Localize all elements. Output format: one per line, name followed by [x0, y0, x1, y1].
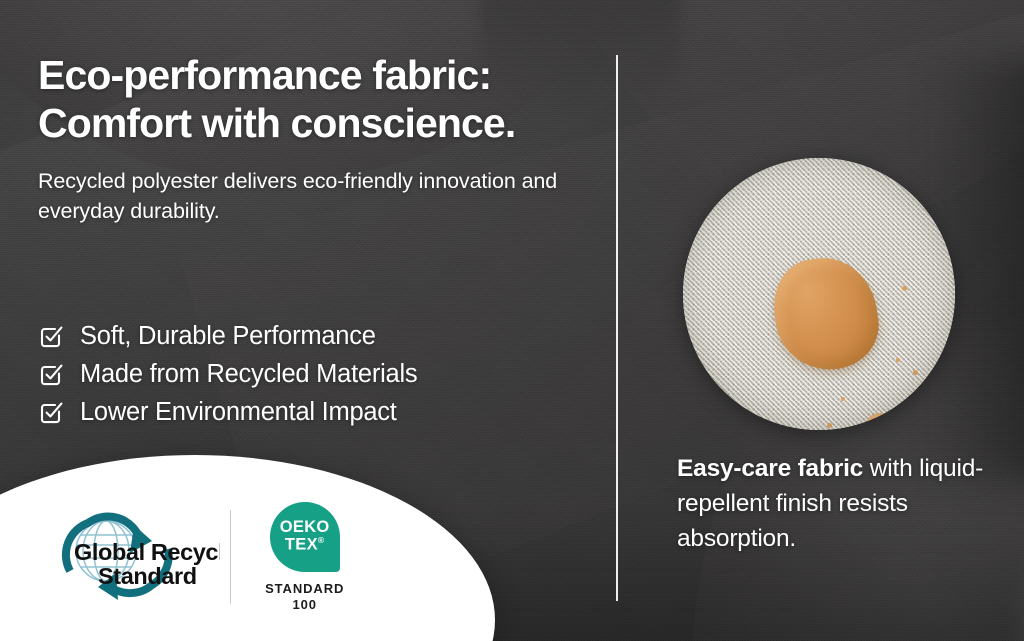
globe-recycle-arrows-icon: Global Recycled Standard	[48, 505, 220, 609]
badge-separator	[230, 510, 231, 604]
subheadline: Recycled polyester delivers eco-friendly…	[38, 167, 598, 226]
oeko-tex-mark-line-1: OEKO	[280, 519, 330, 536]
list-item: Made from Recycled Materials	[38, 360, 578, 389]
vertical-divider	[616, 55, 618, 601]
list-item: Lower Environmental Impact	[38, 398, 578, 427]
feature-label: Lower Environmental Impact	[80, 398, 397, 427]
headline-line-2: Comfort with conscience.	[38, 100, 598, 148]
right-caption-bold: Easy-care fabric	[677, 455, 863, 482]
fabric-swatch-circle	[683, 158, 955, 430]
list-item: Soft, Durable Performance	[38, 322, 578, 351]
oeko-tex-standard-number: 100	[293, 597, 317, 612]
certification-badges: Global Recycled Standard OEKO TEX® STAND…	[48, 498, 358, 616]
right-caption: Easy-care fabric with liquid-repellent f…	[677, 452, 1007, 556]
checkbox-checked-icon	[38, 400, 64, 426]
feature-label: Soft, Durable Performance	[80, 322, 376, 351]
left-content-column: Eco-performance fabric: Comfort with con…	[38, 52, 598, 226]
headline-line-1: Eco-performance fabric:	[38, 52, 491, 98]
oeko-tex-mark-line-2: TEX®	[285, 536, 325, 554]
svg-text:Standard: Standard	[98, 563, 197, 589]
global-recycled-standard-logo: Global Recycled Standard	[48, 505, 220, 609]
page-title: Eco-performance fabric: Comfort with con…	[38, 52, 598, 147]
oeko-tex-leaf-icon: OEKO TEX®	[270, 502, 340, 572]
svg-text:Global Recycled: Global Recycled	[74, 539, 220, 565]
feature-list: Soft, Durable Performance Made from Recy…	[38, 322, 578, 427]
swatch-vignette	[683, 158, 955, 430]
promo-banner: Eco-performance fabric: Comfort with con…	[0, 0, 1024, 641]
oeko-tex-standard-label: STANDARD	[265, 581, 344, 598]
checkbox-checked-icon	[38, 324, 64, 350]
oeko-tex-badge: OEKO TEX® STANDARD 100	[251, 502, 358, 613]
feature-label: Made from Recycled Materials	[80, 360, 417, 389]
checkbox-checked-icon	[38, 362, 64, 388]
